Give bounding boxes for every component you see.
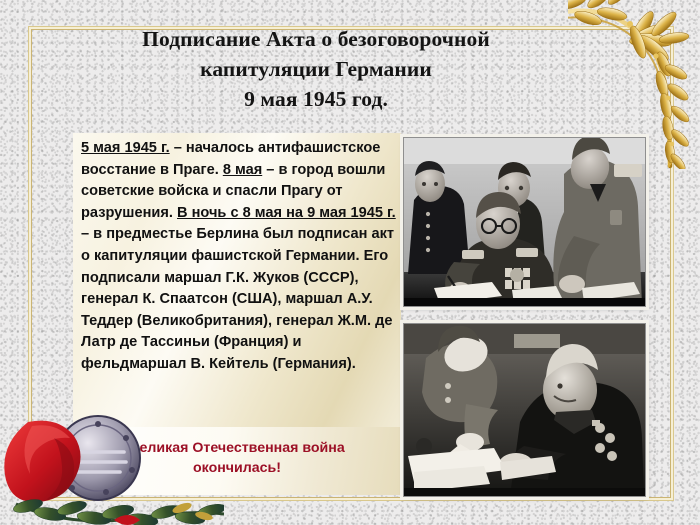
body-text-run: – в предместье Берлина был подписан акт … [81, 226, 394, 372]
order-medal-laurel-ornament [0, 408, 224, 525]
keitel-signing-photo [403, 323, 646, 497]
presentation-slide: Подписание Акта о безоговорочной капитул… [0, 0, 700, 525]
title-line-1: Подписание Акта о безоговорочной [56, 24, 576, 54]
title-line-2: капитуляции Германии [56, 54, 576, 84]
title-line-3: 9 мая 1945 год. [56, 84, 576, 114]
keitel-signing-photo-graphic [404, 324, 645, 496]
body-date-emphasis: 5 мая 1945 г. [81, 140, 170, 156]
body-paragraph: 5 мая 1945 г. – началось антифашистское … [81, 138, 397, 376]
page-title: Подписание Акта о безоговорочной капитул… [56, 24, 576, 114]
order-medal-laurel-ornament-clip [0, 408, 224, 525]
text-panel-inner: 5 мая 1945 г. – началось антифашистское … [81, 138, 397, 376]
gold-wheat-branch-ornament [568, 0, 700, 169]
body-paragraph-text: 5 мая 1945 г. – началось антифашистское … [81, 138, 397, 376]
body-date-emphasis: В ночь с 8 мая на 9 мая 1945 г. [177, 205, 396, 221]
body-date-emphasis: 8 мая [223, 162, 262, 178]
